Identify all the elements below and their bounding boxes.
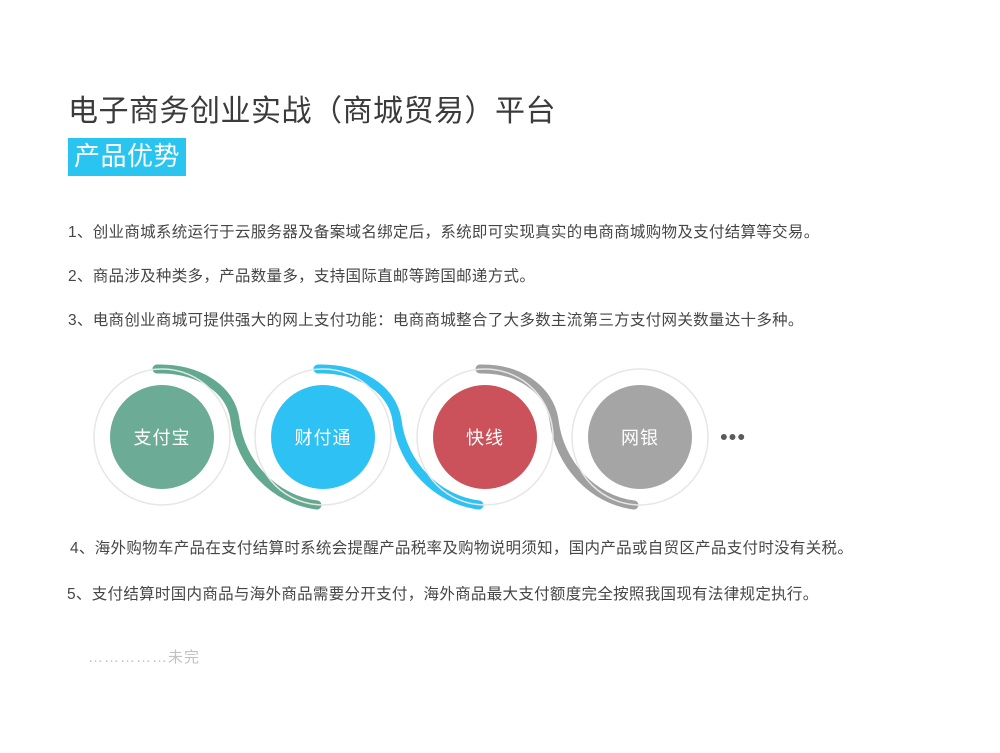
list-item: 1、创业商城系统运行于云服务器及备案域名绑定后，系统即可实现真实的电商商城购物及… <box>68 222 948 244</box>
subtitle-wrap: 产品优势 <box>68 138 186 176</box>
slide-canvas: 电子商务创业实战（商城贸易）平台 产品优势 1、创业商城系统运行于云服务器及备案… <box>0 0 1000 753</box>
gateway-node[interactable]: 财付通 <box>271 385 375 489</box>
page-title: 电子商务创业实战（商城贸易）平台 <box>68 94 556 130</box>
list-item: 5、支付结算时国内商品与海外商品需要分开支付，海外商品最大支付额度完全按照我国现… <box>67 584 970 606</box>
body-list-lower: 4、海外购物车产品在支付结算时系统会提醒产品税率及购物说明须知，国内产品或自贸区… <box>70 538 970 606</box>
title-block: 电子商务创业实战（商城贸易）平台 产品优势 <box>68 94 556 176</box>
diagram-svg: 支付宝财付通快线网银 ••• <box>85 352 785 522</box>
gateway-node[interactable]: 网银 <box>588 385 692 489</box>
node-label: 网银 <box>621 428 659 448</box>
ellipsis-indicator: ••• <box>720 425 746 450</box>
payment-gateway-diagram: 支付宝财付通快线网银 ••• <box>85 352 785 522</box>
node-label: 财付通 <box>295 428 352 448</box>
body-list-upper: 1、创业商城系统运行于云服务器及备案域名绑定后，系统即可实现真实的电商商城购物及… <box>68 222 948 332</box>
node-label: 快线 <box>466 428 504 448</box>
gateway-node[interactable]: 支付宝 <box>110 385 214 489</box>
connector-group <box>157 369 634 505</box>
list-item: 2、商品涉及种类多，产品数量多，支持国际直邮等跨国邮递方式。 <box>68 266 948 288</box>
list-item: 4、海外购物车产品在支付结算时系统会提醒产品税率及购物说明须知，国内产品或自贸区… <box>70 538 970 560</box>
list-item: 3、电商创业商城可提供强大的网上支付功能：电商商城整合了大多数主流第三方支付网关… <box>68 310 948 332</box>
continuation-note: ……………未完 <box>88 648 200 668</box>
node-label: 支付宝 <box>134 428 191 448</box>
gateway-node[interactable]: 快线 <box>433 385 537 489</box>
section-badge: 产品优势 <box>68 138 186 176</box>
